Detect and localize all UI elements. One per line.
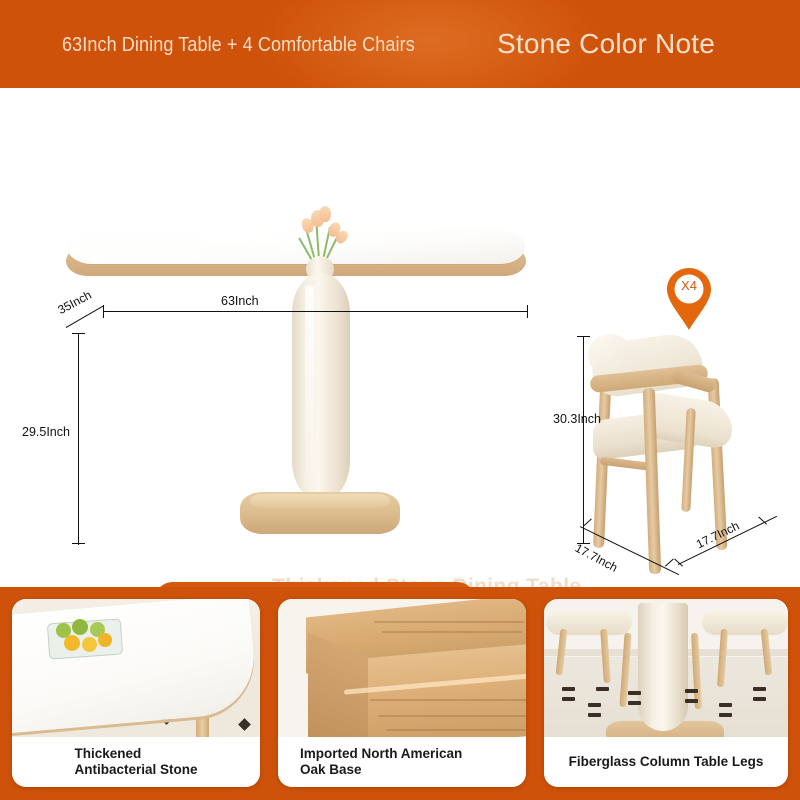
rug-dot [588, 713, 601, 717]
fruit [82, 637, 97, 652]
flower-bloom [319, 206, 331, 222]
dimension-tick [72, 333, 85, 334]
wood-grain [386, 729, 526, 731]
photo-scene-oak [278, 599, 526, 741]
rug-dot [596, 687, 609, 691]
fruit [72, 619, 88, 635]
dimension-tick [72, 543, 85, 544]
wood-grain [374, 621, 524, 623]
rug-dot [562, 687, 575, 691]
rug-dot [562, 697, 575, 701]
feature-caption-2: Imported North American Oak Base [278, 737, 526, 787]
feature-card-antibacterial-stone[interactable]: Thickened Antibacterial Stone [12, 599, 260, 787]
wood-grain [378, 715, 526, 717]
chair-quantity-label: X4 [665, 278, 713, 293]
chair-seat-left-photo [546, 609, 632, 635]
dimension-tick [577, 336, 590, 337]
dining-table-illustration: 63Inch 35Inch 29.5Inch [0, 88, 560, 587]
dimension-tick [103, 305, 104, 318]
feature-caption-3: Fiberglass Column Table Legs [544, 737, 788, 787]
chair-seat-right-photo [702, 609, 788, 635]
table-oak-base [240, 492, 400, 534]
dimension-tick [527, 305, 528, 318]
table-top [66, 230, 526, 278]
rug-dot [588, 703, 601, 707]
feature-caption-text: Thickened Antibacterial Stone [74, 746, 197, 778]
column-highlight [305, 285, 314, 483]
photo-scene-stone [12, 599, 260, 741]
feature-card-fiberglass-legs[interactable]: Fiberglass Column Table Legs [544, 599, 788, 787]
chair-dimension-label-height: 30.3Inch [553, 412, 601, 426]
feature-photo-oak [278, 599, 526, 741]
base-top-facet [250, 494, 390, 508]
fiberglass-column-leg [638, 603, 688, 731]
header-title-left: 63Inch Dining Table + 4 Comfortable Chai… [62, 33, 415, 57]
dimension-label-width: 63Inch [221, 294, 259, 308]
feature-cards-band: Thickened Antibacterial Stone I [0, 587, 800, 800]
header-banner: 63Inch Dining Table + 4 Comfortable Chai… [0, 0, 800, 88]
header-title-right: Stone Color Note [497, 28, 715, 60]
feature-caption-text: Imported North American Oak Base [300, 746, 462, 778]
product-infographic: 63Inch Dining Table + 4 Comfortable Chai… [0, 0, 800, 800]
map-pin-icon: X4 [665, 266, 713, 332]
rug-dot [719, 713, 732, 717]
rug-dot [753, 697, 766, 701]
dimension-line-width [103, 311, 528, 312]
chair-dimension-line-height [583, 336, 584, 544]
main-illustration-stage: Thickened Stone Dining Table [0, 88, 800, 587]
rug-dot [628, 691, 641, 695]
rug-dot [719, 703, 732, 707]
chair-headrest-cushion [588, 334, 632, 376]
rug-dot [685, 689, 698, 693]
feature-caption-1: Thickened Antibacterial Stone [12, 737, 260, 787]
feature-card-oak-base[interactable]: Imported North American Oak Base [278, 599, 526, 787]
photo-scene-legs [544, 599, 788, 741]
table-top-highlight [96, 234, 426, 244]
feature-caption-text: Fiberglass Column Table Legs [569, 754, 764, 770]
wood-grain [382, 631, 522, 633]
wood-grain [370, 699, 526, 701]
rug-dot [628, 701, 641, 705]
fruit [98, 633, 112, 647]
dimension-line-height [78, 333, 79, 545]
table-pedestal-column [292, 273, 350, 501]
rug-dot [685, 699, 698, 703]
feature-photo-legs [544, 599, 788, 741]
fruit [64, 635, 80, 651]
dimension-label-height: 29.5Inch [22, 425, 70, 439]
rug-dot [753, 687, 766, 691]
feature-photo-stone [12, 599, 260, 741]
